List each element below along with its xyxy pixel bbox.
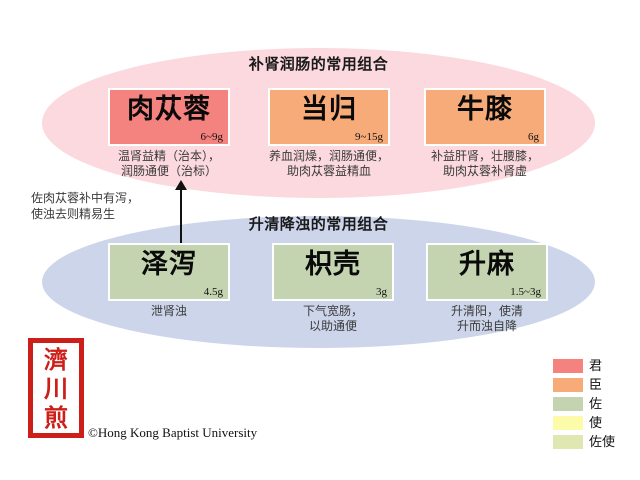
herb-description: 升清阳，使清 升而浊自降 (426, 304, 548, 334)
legend-label: 使 (589, 416, 602, 430)
legend-label: 臣 (589, 378, 602, 392)
legend-label: 佐使 (589, 435, 615, 449)
legend-item-shi: 使 (553, 414, 633, 431)
herb-description: 泄肾浊 (108, 304, 230, 319)
legend-swatch-zuo (553, 397, 583, 411)
legend-label: 佐 (589, 397, 602, 411)
herb-card-danggui[interactable]: 当归 9~15g 养血润燥，润肠通便， 助肉苁蓉益精血 (268, 88, 390, 179)
legend-swatch-zuoshi (553, 435, 583, 449)
herb-box: 泽泻 4.5g (108, 243, 230, 301)
herb-box: 枳壳 3g (272, 243, 394, 301)
herb-name: 枳壳 (274, 247, 392, 281)
herb-card-zexie[interactable]: 泽泻 4.5g 泄肾浊 (108, 243, 230, 319)
legend-item-zuo: 佐 (553, 395, 633, 412)
herb-name: 当归 (270, 92, 388, 126)
herb-dose: 4.5g (204, 286, 223, 298)
herb-description: 养血润燥，润肠通便， 助肉苁蓉益精血 (268, 149, 390, 179)
herb-dose: 1.5~3g (510, 286, 541, 298)
herb-box: 肉苁蓉 6~9g (108, 88, 230, 146)
legend-swatch-shi (553, 416, 583, 430)
herb-name: 牛膝 (426, 92, 544, 126)
group-title-bushen-runchang: 补肾润肠的常用组合 (42, 53, 595, 74)
legend-swatch-chen (553, 378, 583, 392)
legend-item-chen: 臣 (553, 376, 633, 393)
herb-dose: 3g (376, 286, 387, 298)
herb-name: 泽泻 (110, 247, 228, 281)
copyright-notice: ©Hong Kong Baptist University (88, 425, 257, 441)
herb-description: 下气宽肠， 以助通便 (272, 304, 394, 334)
herb-card-zhike[interactable]: 枳壳 3g 下气宽肠， 以助通便 (272, 243, 394, 334)
formula-diagram: 补肾润肠的常用组合 升清降浊的常用组合 肉苁蓉 6~9g 温肾益精（治本）， 润… (0, 0, 640, 480)
herb-description: 温肾益精（治本）， 润肠通便（治标） (108, 149, 230, 179)
herb-name: 升麻 (428, 247, 546, 281)
herb-description: 补益肝肾，壮腰膝， 助肉苁蓉补肾虚 (424, 149, 546, 179)
herb-card-niuxi[interactable]: 牛膝 6g 补益肝肾，壮腰膝， 助肉苁蓉补肾虚 (424, 88, 546, 179)
herb-dose: 6~9g (201, 131, 223, 143)
formula-seal-stamp: 濟 川 煎 (28, 338, 84, 438)
legend-swatch-jun (553, 359, 583, 373)
herb-box: 当归 9~15g (268, 88, 390, 146)
annotation-text: 佐肉苁蓉补中有泻， 使浊去则精易生 (31, 190, 179, 222)
legend-item-zuoshi: 佐使 (553, 433, 633, 450)
herb-box: 升麻 1.5~3g (426, 243, 548, 301)
seal-text: 濟 川 煎 (33, 347, 79, 434)
herb-dose: 6g (528, 131, 539, 143)
legend-item-jun: 君 (553, 357, 633, 374)
herb-card-shengma[interactable]: 升麻 1.5~3g 升清阳，使清 升而浊自降 (426, 243, 548, 334)
arrow-shaft (180, 186, 182, 244)
role-legend: 君 臣 佐 使 佐使 (553, 357, 633, 452)
herb-dose: 9~15g (355, 131, 383, 143)
herb-card-roucongrong[interactable]: 肉苁蓉 6~9g 温肾益精（治本）， 润肠通便（治标） (108, 88, 230, 179)
legend-label: 君 (589, 359, 602, 373)
herb-name: 肉苁蓉 (110, 92, 228, 126)
herb-box: 牛膝 6g (424, 88, 546, 146)
